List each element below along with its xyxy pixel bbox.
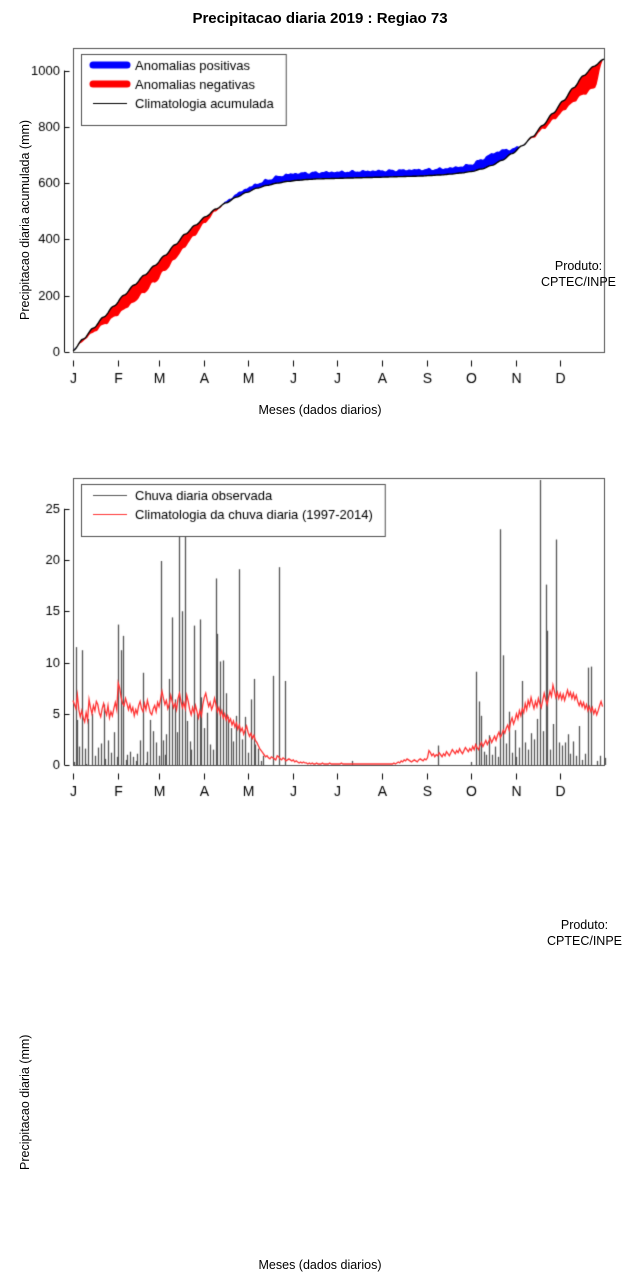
accumulated-precipitation-panel: Precipitacao diaria 2019 : Regiao 73 Pre… [0, 0, 640, 430]
produto-annotation-top: Produto: CPTEC/INPE [541, 258, 616, 290]
x-axis-label-accumulated: Meses (dados diarios) [0, 403, 640, 417]
produto-annotation-bottom: Produto: CPTEC/INPE [547, 917, 622, 949]
page-title: Precipitacao diaria 2019 : Regiao 73 [0, 10, 640, 27]
accumulated-chart-canvas [0, 0, 640, 430]
daily-precipitation-panel: Precipitacao diaria (mm) Meses (dados di… [0, 430, 640, 850]
daily-chart-canvas [0, 430, 640, 850]
y-axis-label-accumulated: Precipitacao diaria acumulada (mm) [18, 120, 32, 320]
y-axis-label-daily: Precipitacao diaria (mm) [18, 1035, 32, 1170]
x-axis-label-daily: Meses (dados diarios) [0, 1258, 640, 1272]
